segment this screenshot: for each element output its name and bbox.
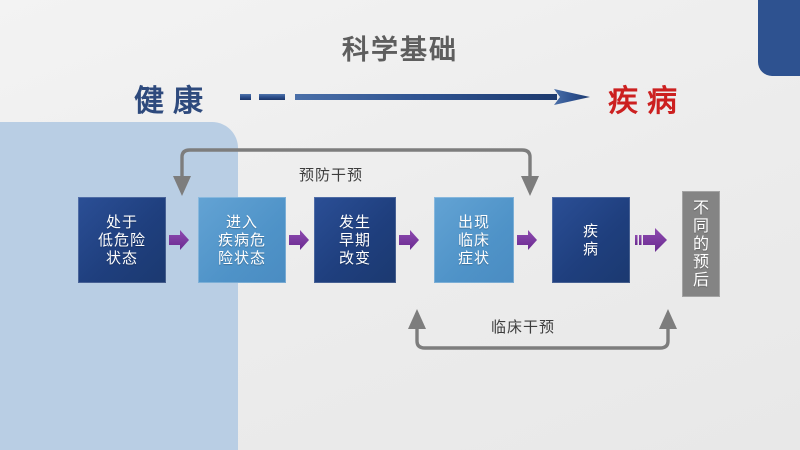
purple-block-arrow-right-icon-5 [634,223,668,257]
flow-node-line: 不 [693,199,709,217]
disease-progression-flow: 处于 低危险 状态 进入 疾病危 险状态 [0,197,800,303]
flow-node-line: 处于 [106,213,138,231]
flow-node-line: 症状 [458,249,490,267]
flow-node-different-prognosis[interactable]: 不 同 的 预 后 [682,191,720,297]
flow-node-line: 发生 [339,213,371,231]
flow-node-line: 同 [693,217,709,235]
flow-node-line: 疾病危 [218,231,266,249]
arc-label-prevention: 预防干预 [299,164,363,185]
flow-node-line: 状态 [106,249,138,267]
flow-node-line: 改变 [339,249,371,267]
health-label: 健康 [134,76,212,120]
page-title: 科学基础 [0,28,800,67]
flow-node-line: 低危险 [98,231,146,249]
purple-block-arrow-right-icon-4 [516,227,538,253]
flow-node-clinical-symptoms[interactable]: 出现 临床 症状 [434,197,514,283]
flow-node-line: 的 [693,235,709,253]
flow-node-early-changes[interactable]: 发生 早期 改变 [314,197,396,283]
flow-node-line: 预 [693,253,709,271]
gradient-right-arrow-icon [238,82,598,112]
arc-label-clinical: 临床干预 [491,316,555,337]
flow-node-low-risk-state[interactable]: 处于 低危险 状态 [78,197,166,283]
flow-node-line: 后 [693,271,709,289]
flow-node-line: 临床 [458,231,490,249]
flow-node-line: 出现 [458,213,490,231]
flow-node-line: 疾 [583,222,599,240]
flow-node-line: 病 [583,240,599,258]
flow-node-line: 险状态 [218,249,266,267]
disease-label: 疾病 [608,76,686,120]
flow-node-disease[interactable]: 疾 病 [552,197,630,283]
flow-node-disease-risk-state[interactable]: 进入 疾病危 险状态 [198,197,286,283]
flow-node-line: 早期 [339,231,371,249]
purple-block-arrow-right-icon-2 [288,227,310,253]
purple-block-arrow-right-icon-1 [168,227,190,253]
purple-block-arrow-right-icon-3 [398,227,420,253]
slide-canvas: 科学基础 健康 疾病 [0,0,800,450]
flow-node-line: 进入 [226,213,258,231]
